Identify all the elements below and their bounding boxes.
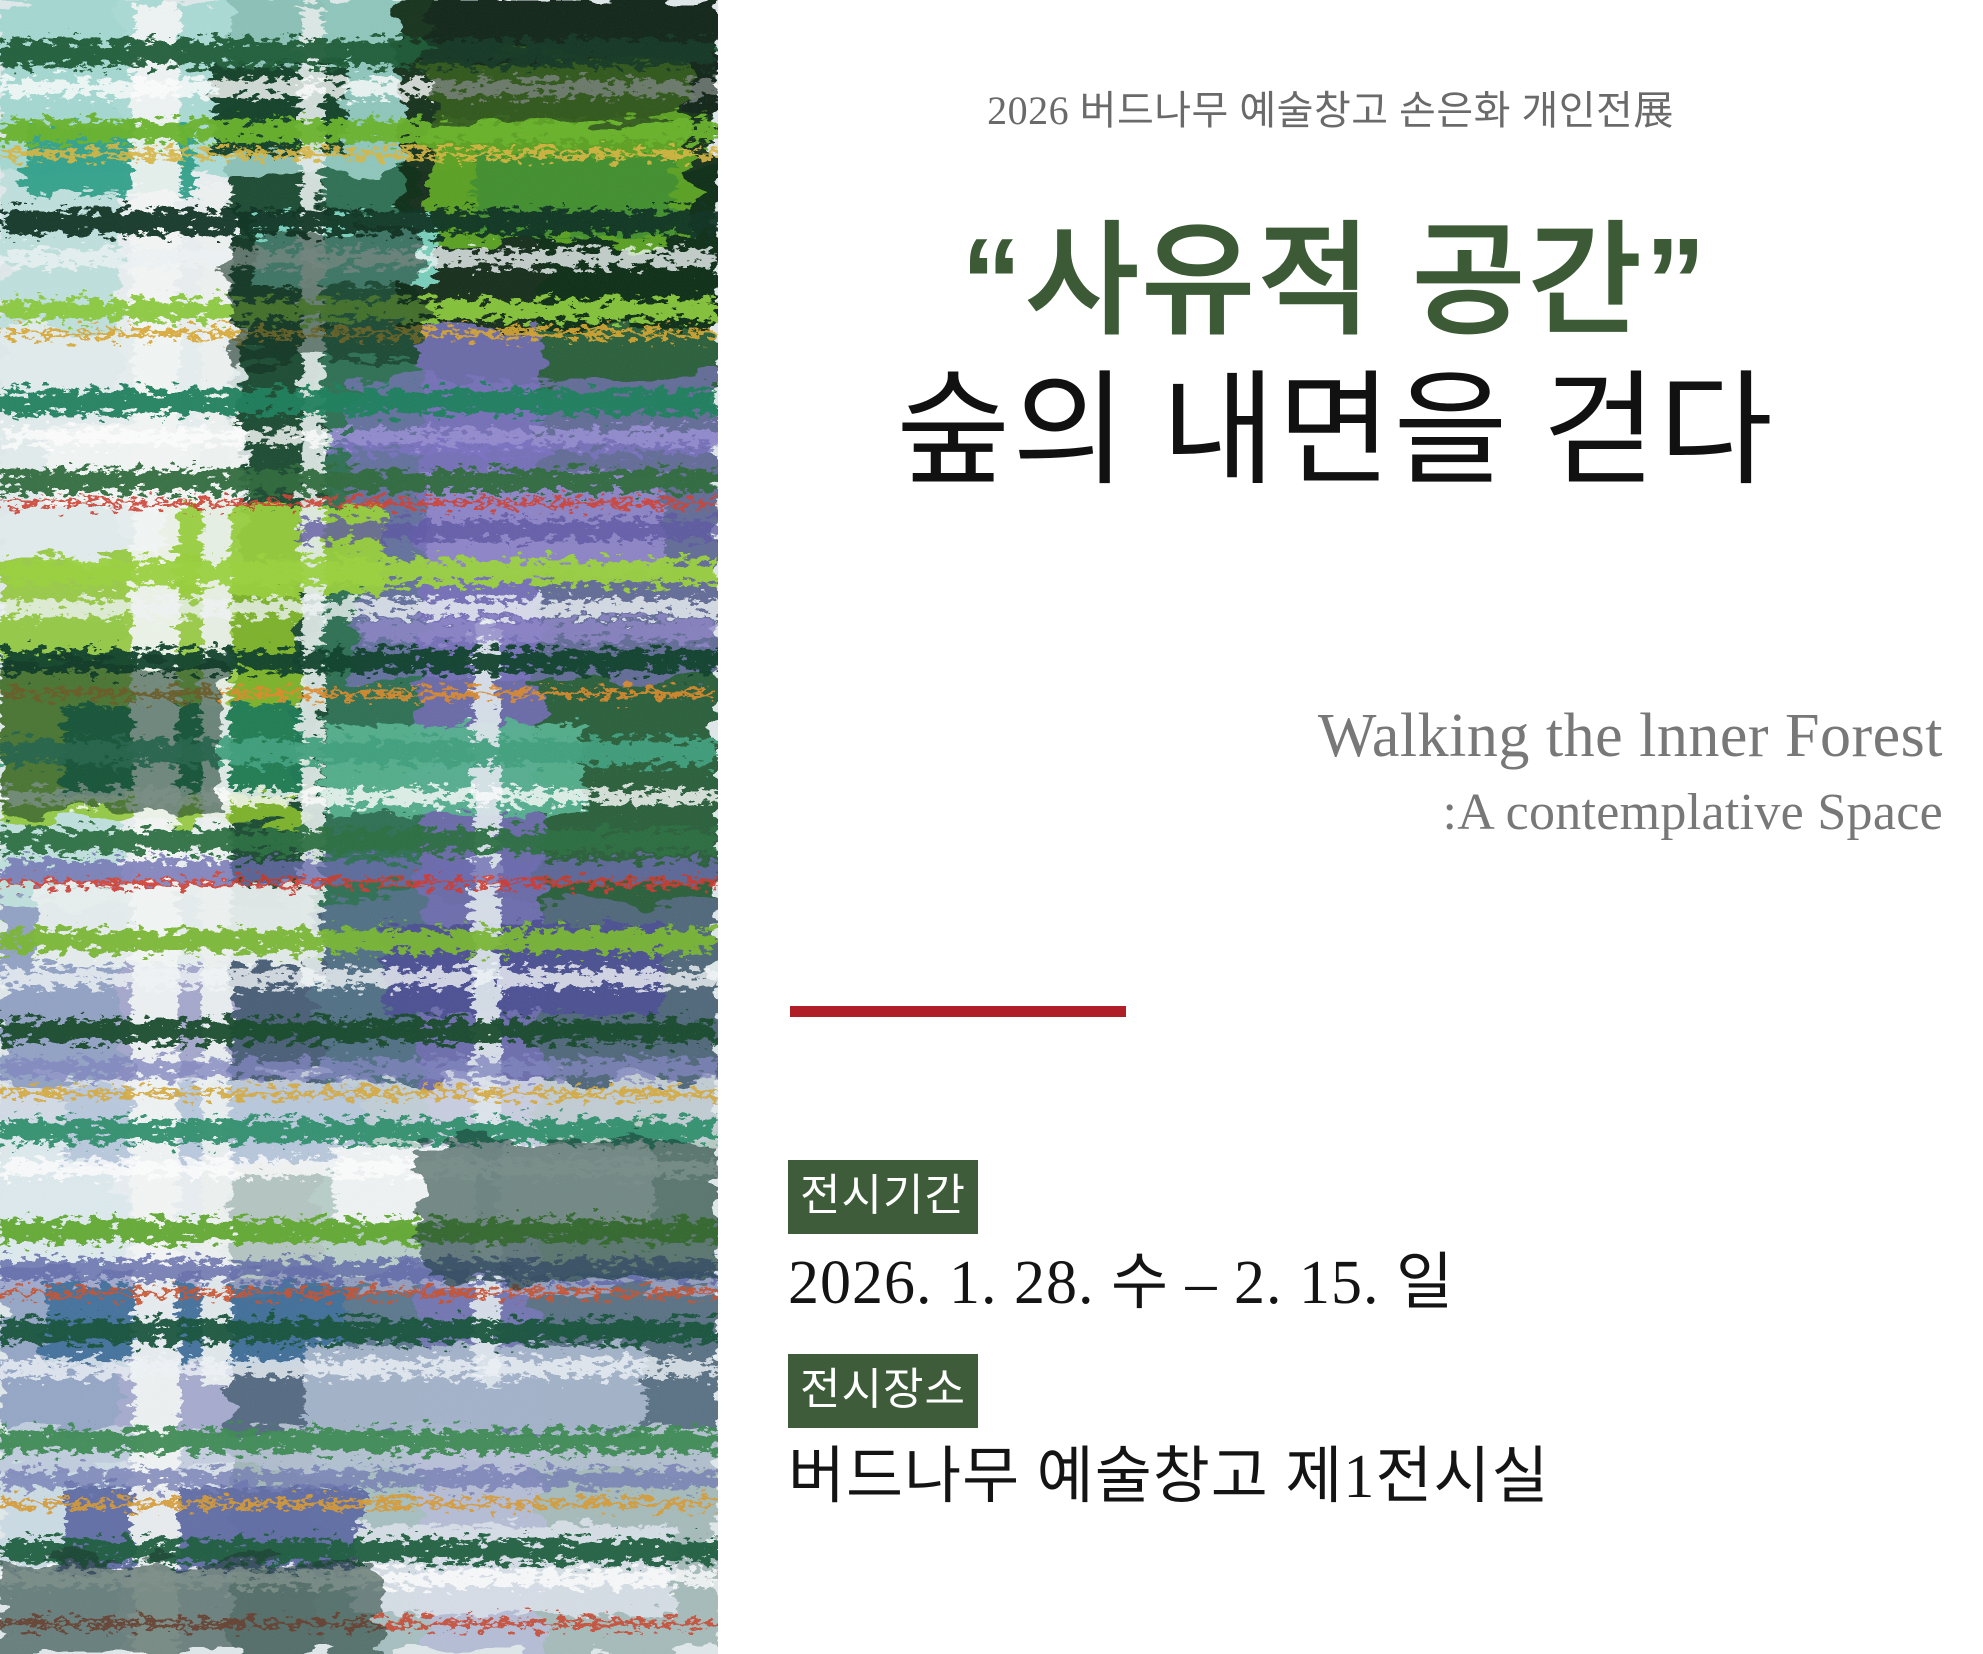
subtitle-english-secondary: :A contemplative Space [718, 779, 1943, 847]
title-block: “사유적 공간” 숲의 내면을 걷다 [718, 210, 1953, 504]
exhibition-period-group: 전시기간 2026. 1. 28. 수 – 2. 15. 일 [788, 1160, 1943, 1320]
exhibition-eyebrow: 2026 버드나무 예술창고 손은화 개인전展 [718, 78, 1943, 136]
exhibition-venue-value: 버드나무 예술창고 제1전시실 [788, 1440, 1943, 1514]
exhibition-venue-badge: 전시장소 [788, 1354, 978, 1428]
red-divider-rule [790, 1006, 1126, 1017]
page-title-secondary: 숲의 내면을 걷다 [718, 360, 1953, 504]
exhibition-info-block: 전시기간 2026. 1. 28. 수 – 2. 15. 일 전시장소 버드나무… [788, 1160, 1943, 1529]
abstract-painting-svg [0, 0, 718, 1654]
exhibition-poster: 2026 버드나무 예술창고 손은화 개인전展 “사유적 공간” 숲의 내면을 … [0, 0, 1983, 1654]
exhibition-period-badge: 전시기간 [788, 1160, 978, 1234]
subtitle-english-primary: Walking the lnner Forest [718, 700, 1943, 773]
artwork-image [0, 0, 718, 1654]
page-title-primary: “사유적 공간” [718, 210, 1953, 354]
poster-text-panel: 2026 버드나무 예술창고 손은화 개인전展 “사유적 공간” 숲의 내면을 … [718, 0, 1983, 1654]
exhibition-venue-group: 전시장소 버드나무 예술창고 제1전시실 [788, 1354, 1943, 1514]
exhibition-period-value: 2026. 1. 28. 수 – 2. 15. 일 [788, 1246, 1943, 1320]
subtitle-block: Walking the lnner Forest :A contemplativ… [718, 700, 1943, 847]
